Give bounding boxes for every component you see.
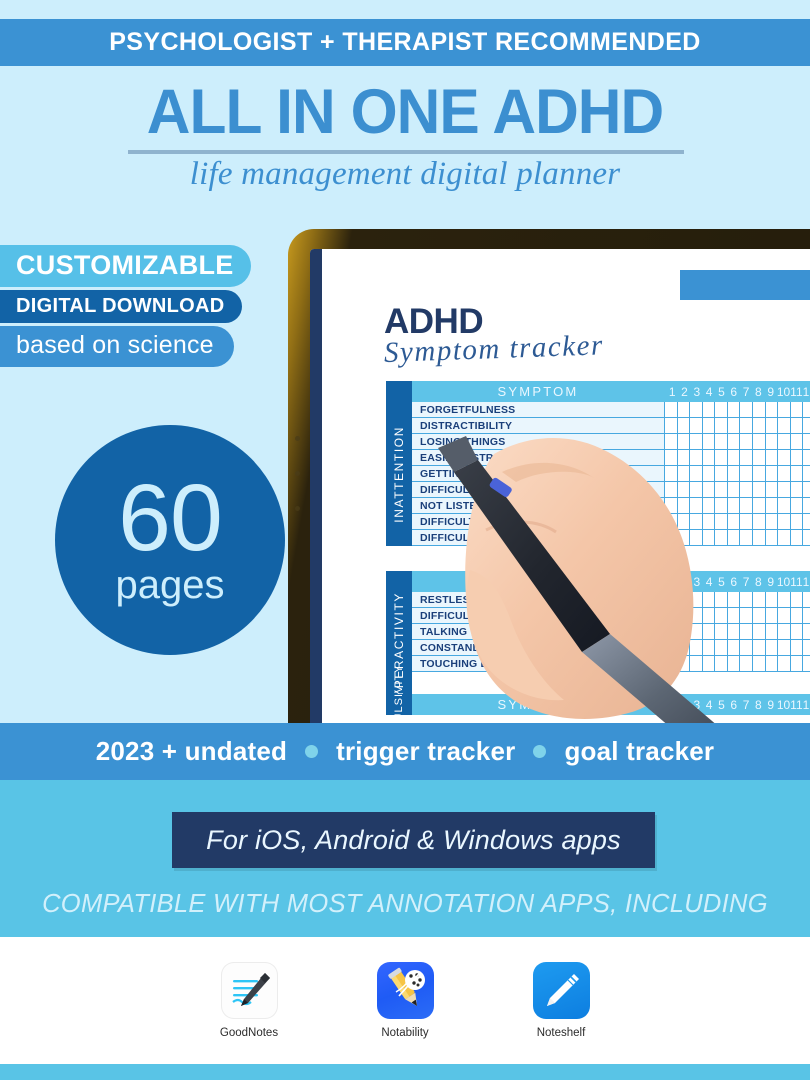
app-name-label: GoodNotes (220, 1027, 278, 1039)
recommendation-banner-text: PSYCHOLOGIST + THERAPIST RECOMMENDED (109, 28, 701, 57)
day-header: 7 (740, 575, 752, 589)
bottom-accent-strip (0, 1064, 810, 1080)
page-count-number: 60 (118, 475, 222, 562)
symptom-cells[interactable] (664, 514, 810, 530)
tracker-header-row: SYMPTOM 1 2 3 4 5 6 7 8 9 10 11 (386, 381, 810, 402)
noteshelf-icon[interactable] (533, 962, 590, 1019)
app-name-label: Notability (381, 1027, 428, 1039)
tablet-camera-dot (295, 436, 300, 441)
day-header: 1 (666, 575, 678, 589)
day-header: 2 (678, 385, 690, 399)
goodnotes-icon[interactable] (221, 962, 278, 1019)
day-number-headers: 1 2 3 4 5 6 7 8 9 10 11 12 (664, 694, 810, 715)
day-header: 7 (740, 698, 752, 712)
category-label-impulsivity: IMPULSIVITY (386, 694, 412, 715)
day-header: 6 (728, 385, 740, 399)
symptom-label: LOSING THINGS (412, 434, 664, 450)
feature-2023-undated: 2023 + undated (96, 736, 287, 767)
symptom-label: CONSTANLY TALKING OR MOVING (412, 640, 664, 656)
feature-badges: CUSTOMIZABLE DIGITAL DOWNLOAD based on s… (0, 245, 251, 370)
tracker-section-inattention: SYMPTOM 1 2 3 4 5 6 7 8 9 10 11 (386, 381, 810, 546)
symptom-cells[interactable] (664, 640, 810, 656)
symptom-cells[interactable] (664, 498, 810, 514)
day-header: 3 (691, 575, 703, 589)
planner-page: ADHD Symptom tracker SYMPTOM 1 2 3 4 5 6 (322, 249, 810, 723)
symptom-cells[interactable] (664, 482, 810, 498)
category-text: IMPULSIVITY (393, 665, 405, 723)
day-header: 5 (715, 385, 727, 399)
app-notability[interactable]: Notability (349, 962, 461, 1039)
hero-section: ALL IN ONE ADHD life management digital … (0, 66, 810, 221)
day-header: 3 (691, 385, 703, 399)
symptom-label: TALKING TOO MUCH AND LOUD (412, 624, 664, 640)
symptom-cells[interactable] (664, 608, 810, 624)
day-header: 12 (803, 575, 810, 589)
table-row: RESTLESSNESS (412, 592, 810, 608)
symptom-label: EASILY DISTRACTED (412, 450, 664, 466)
table-row: LOSING THINGS (412, 434, 810, 450)
table-row: DIFFICULTY ORGANIZING (412, 514, 810, 530)
tablet-camera-dot (295, 506, 300, 511)
table-row: NOT LISTENIN WHEN SPOKEN TO (412, 498, 810, 514)
day-number-headers: 1 2 3 4 5 6 7 8 9 10 11 12 (664, 381, 810, 402)
recommendation-banner: PSYCHOLOGIST + THERAPIST RECOMMENDED (0, 19, 810, 66)
symptom-cells[interactable] (664, 624, 810, 640)
tablet-camera-dot (295, 471, 300, 476)
badge-row-customizable: CUSTOMIZABLE (0, 245, 251, 287)
table-row: GETTING LOST IN DETAILS (412, 466, 810, 482)
symptom-cells[interactable] (664, 656, 810, 672)
category-label-inattention: INATTENTION (386, 402, 412, 546)
table-row: DIFFICULTY STARTING & FINISHING TASKS (412, 530, 810, 546)
bullet-dot-icon (533, 745, 546, 758)
badge-row-based-on-science: based on science (0, 326, 251, 367)
symptom-column-header: SYMPTOM (412, 381, 664, 402)
day-header: 8 (752, 385, 764, 399)
tracker-rows: RESTLESSNESS DIFFICULTY RELAXING TALKING… (412, 592, 810, 708)
badge-digital-download: DIGITAL DOWNLOAD (0, 290, 242, 323)
day-header: 6 (728, 698, 740, 712)
day-header: 4 (703, 385, 715, 399)
tracker-section-hyperactivity: SYMPTOM 1 2 3 4 5 6 7 8 9 10 11 (386, 571, 810, 708)
table-row: EASILY DISTRACTED (412, 450, 810, 466)
app-goodnotes[interactable]: GoodNotes (193, 962, 305, 1039)
day-header: 1 (666, 385, 678, 399)
table-row: FORGETFULNESS (412, 402, 810, 418)
tracker-rows: FORGETFULNESS DISTRACTIBILITY LOSING THI… (412, 402, 810, 546)
category-text: INATTENTION (392, 426, 406, 523)
badge-row-digital-download: DIGITAL DOWNLOAD (0, 290, 251, 323)
tracker-body: HYPERACTIVITY RESTLESSNESS DIFFICULTY RE… (386, 592, 810, 708)
day-header: 4 (703, 575, 715, 589)
page-count-badge: 60 pages (55, 425, 285, 655)
page-title: ALL IN ONE ADHD (16, 76, 794, 148)
tablet-screen: ADHD Symptom tracker SYMPTOM 1 2 3 4 5 6 (310, 249, 810, 723)
day-header: 5 (715, 698, 727, 712)
symptom-label: DIFFICULTY STAYING ON TASK (412, 482, 664, 498)
badge-based-on-science: based on science (0, 326, 234, 367)
day-header: 10 (777, 698, 790, 712)
app-noteshelf[interactable]: Noteshelf (505, 962, 617, 1039)
symptom-label: DIFFICULTY ORGANIZING (412, 514, 664, 530)
feature-highlights-bar: 2023 + undated trigger tracker goal trac… (0, 723, 810, 780)
day-header: 11 (790, 698, 802, 712)
symptom-cells[interactable] (664, 530, 810, 546)
day-header: 7 (740, 385, 752, 399)
day-header: 10 (777, 575, 790, 589)
symptom-label: GETTING LOST IN DETAILS (412, 466, 664, 482)
symptom-label: TOUCHING EVERYTHING IN A SIGHT (412, 656, 664, 672)
day-header: 5 (715, 575, 727, 589)
feature-trigger-tracker: trigger tracker (336, 736, 515, 767)
day-header: 2 (678, 575, 690, 589)
badge-customizable: CUSTOMIZABLE (0, 245, 251, 287)
tablet-mockup: ADHD Symptom tracker SYMPTOM 1 2 3 4 5 6 (288, 229, 810, 723)
tracker-header-row: IMPULSIVITY SYMPTOM 1 2 3 4 5 6 7 8 (386, 694, 810, 715)
day-header: 9 (765, 698, 777, 712)
platform-section: For iOS, Android & Windows apps COMPATIB… (0, 780, 810, 937)
day-header: 10 (777, 385, 790, 399)
symptom-cells[interactable] (664, 450, 810, 466)
symptom-cells[interactable] (664, 434, 810, 450)
tracker-header-corner (386, 381, 412, 402)
symptom-label: DIFFICULTY RELAXING (412, 608, 664, 624)
feature-goal-tracker: goal tracker (564, 736, 714, 767)
planner-accent-bar (680, 270, 810, 300)
product-listing-image: PSYCHOLOGIST + THERAPIST RECOMMENDED ALL… (0, 0, 810, 1080)
table-row: DIFFICULTY RELAXING (412, 608, 810, 624)
table-row: CONSTANLY TALKING OR MOVING (412, 640, 810, 656)
tracker-section-impulsivity: IMPULSIVITY SYMPTOM 1 2 3 4 5 6 7 8 (386, 694, 810, 715)
day-number-headers: 1 2 3 4 5 6 7 8 9 10 11 12 (664, 571, 810, 592)
tracker-header-corner (386, 571, 412, 592)
page-count-label: pages (116, 565, 225, 605)
tracker-header-row: SYMPTOM 1 2 3 4 5 6 7 8 9 10 11 (386, 571, 810, 592)
day-header: 1 (666, 698, 678, 712)
day-header: 9 (765, 575, 777, 589)
notability-icon[interactable] (377, 962, 434, 1019)
compatible-apps-row: GoodNotes (0, 937, 810, 1064)
tracker-body: INATTENTION FORGETFULNESS DISTRACTIBILIT… (386, 402, 810, 546)
day-header: 9 (765, 385, 777, 399)
symptom-label: FORGETFULNESS (412, 402, 664, 418)
day-header: 11 (790, 575, 802, 589)
symptom-column-header: SYMPTOM (412, 694, 664, 715)
symptom-label: RESTLESSNESS (412, 592, 664, 608)
bullet-dot-icon (305, 745, 318, 758)
symptom-cells[interactable] (664, 418, 810, 434)
day-header: 2 (678, 698, 690, 712)
page-subtitle: life management digital planner (0, 156, 810, 193)
symptom-cells[interactable] (664, 592, 810, 608)
day-header: 3 (691, 698, 703, 712)
day-header: 6 (728, 575, 740, 589)
platform-chip-text: For iOS, Android & Windows apps (206, 825, 621, 856)
symptom-label: DISTRACTIBILITY (412, 418, 664, 434)
day-header: 11 (790, 385, 802, 399)
table-row: TALKING TOO MUCH AND LOUD (412, 624, 810, 640)
symptom-cells[interactable] (664, 466, 810, 482)
table-row: DIFFICULTY STAYING ON TASK (412, 482, 810, 498)
symptom-label: DIFFICULTY STARTING & FINISHING TASKS (412, 530, 664, 546)
symptom-column-header: SYMPTOM (412, 571, 664, 592)
app-name-label: Noteshelf (537, 1027, 586, 1039)
platform-chip: For iOS, Android & Windows apps (172, 812, 655, 868)
day-header: 12 (803, 698, 810, 712)
day-header: 12 (803, 385, 810, 399)
planner-side-tabs (310, 249, 322, 723)
day-header: 8 (752, 575, 764, 589)
planner-subtitle: Symptom tracker (383, 329, 604, 370)
day-header: 8 (752, 698, 764, 712)
compatibility-text: COMPATIBLE WITH MOST ANNOTATION APPS, IN… (0, 890, 810, 919)
table-row: DISTRACTIBILITY (412, 418, 810, 434)
symptom-label: NOT LISTENIN WHEN SPOKEN TO (412, 498, 664, 514)
day-header: 4 (703, 698, 715, 712)
table-row: TOUCHING EVERYTHING IN A SIGHT (412, 656, 810, 672)
title-divider (128, 150, 684, 154)
symptom-cells[interactable] (664, 402, 810, 418)
